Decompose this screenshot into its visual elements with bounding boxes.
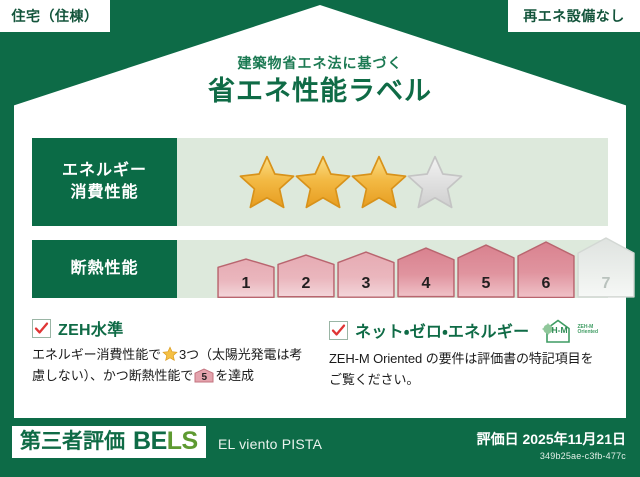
insulation-grade-house: 2 bbox=[277, 256, 335, 298]
energy-label-line2: 消費性能 bbox=[70, 182, 138, 204]
insulation-grade-scale: 1234567 bbox=[177, 240, 637, 303]
check-icon bbox=[34, 321, 49, 336]
grade-badge-value: 5 bbox=[194, 373, 214, 383]
insulation-label: 断熱性能 bbox=[70, 258, 138, 280]
energy-performance-label: 住宅（住棟） 再エネ設備なし 建築物省エネ法に基づく 省エネ性能ラベル エネルギ… bbox=[0, 0, 640, 477]
zeh-desc-part1: エネルギー消費性能で bbox=[32, 347, 161, 362]
zeh-m-house-icon: H-M bbox=[538, 316, 576, 344]
insulation-grade-value: 5 bbox=[457, 275, 515, 293]
evaluation-id: 349b25ae-c3fb-477c bbox=[477, 451, 626, 461]
star-icon bbox=[162, 346, 178, 362]
energy-performance-row: エネルギー 消費性能 bbox=[32, 138, 608, 226]
net-zero-energy-description: ZEH-M Oriented の要件は評価書の特記項目をご覧ください。 bbox=[329, 349, 598, 391]
bels-logo: BELS bbox=[133, 429, 198, 454]
bels-letter-b: B bbox=[133, 427, 151, 455]
net-zero-energy-block: ネット・ゼロ・エネルギー H-M ZEH bbox=[317, 316, 608, 408]
insulation-grade-house: 7 bbox=[577, 239, 635, 298]
zeh-standard-header: ZEH水準 bbox=[32, 316, 307, 340]
title-subtitle: 建築物省エネ法に基づく bbox=[0, 55, 640, 72]
bels-letter-e: E bbox=[151, 427, 167, 455]
insulation-grade-value: 4 bbox=[397, 275, 455, 293]
bels-letter-s: S bbox=[182, 427, 198, 455]
zeh-desc-part3: を達成 bbox=[215, 368, 254, 383]
evaluation-date: 評価日 2025年11月21日 bbox=[477, 429, 626, 449]
net-zero-energy-header: ネット・ゼロ・エネルギー H-M ZEH bbox=[329, 316, 598, 344]
insulation-grade-house: 1 bbox=[217, 259, 275, 298]
star-filled-icon bbox=[237, 153, 297, 211]
insulation-grade-house: 6 bbox=[517, 243, 575, 299]
third-party-evaluation-label: 第三者評価 bbox=[20, 431, 125, 452]
renewable-equipment-tag: 再エネ設備なし bbox=[508, 0, 640, 32]
zeh-m-logo-line2: Oriented bbox=[577, 330, 598, 335]
zeh-standard-checkbox[interactable] bbox=[32, 319, 51, 338]
title-block: 建築物省エネ法に基づく 省エネ性能ラベル bbox=[0, 55, 640, 109]
star-empty-icon bbox=[405, 153, 465, 211]
check-icon bbox=[331, 323, 346, 338]
page-title: 省エネ性能ラベル bbox=[0, 75, 640, 109]
star-rating bbox=[177, 138, 608, 226]
bels-badge: 第三者評価 BELS bbox=[12, 426, 206, 458]
insulation-grade-value: 1 bbox=[217, 275, 275, 293]
grade-badge-icon: 5 bbox=[194, 368, 214, 383]
insulation-grade-value: 2 bbox=[277, 275, 335, 293]
net-zero-energy-title: ネット・ゼロ・エネルギー bbox=[355, 318, 529, 342]
insulation-grade-value: 3 bbox=[337, 275, 395, 293]
energy-label-line1: エネルギー bbox=[62, 160, 147, 182]
zeh-m-letters: H-M bbox=[552, 325, 568, 335]
insulation-grade-house: 3 bbox=[337, 252, 395, 298]
evaluation-info: 評価日 2025年11月21日 349b25ae-c3fb-477c bbox=[477, 429, 626, 461]
insulation-performance-label-cell: 断熱性能 bbox=[32, 240, 177, 298]
building-type-tag: 住宅（住棟） bbox=[0, 0, 110, 32]
star-filled-icon bbox=[349, 153, 409, 211]
zeh-standard-block: ZEH水準 エネルギー消費性能で 3つ（太陽光発電は考慮しない）、かつ断熱性能で… bbox=[32, 316, 317, 408]
zeh-standard-title: ZEH水準 bbox=[58, 316, 124, 340]
energy-performance-label-cell: エネルギー 消費性能 bbox=[32, 138, 177, 226]
insulation-grade-house: 4 bbox=[397, 249, 455, 298]
project-name: EL viento PISTA bbox=[218, 436, 322, 452]
footer-bar: 第三者評価 BELS EL viento PISTA 評価日 2025年11月2… bbox=[0, 422, 640, 477]
insulation-grade-value: 7 bbox=[577, 275, 635, 293]
info-area: ZEH水準 エネルギー消費性能で 3つ（太陽光発電は考慮しない）、かつ断熱性能で… bbox=[32, 316, 608, 408]
zeh-m-oriented-logo: H-M ZEH-M Oriented bbox=[538, 316, 598, 344]
net-zero-energy-checkbox[interactable] bbox=[329, 321, 348, 340]
zeh-standard-description: エネルギー消費性能で 3つ（太陽光発電は考慮しない）、かつ断熱性能で 5 を達成 bbox=[32, 345, 307, 387]
star-filled-icon bbox=[293, 153, 353, 211]
insulation-grade-value: 6 bbox=[517, 275, 575, 293]
bels-letter-l: L bbox=[167, 427, 182, 455]
insulation-performance-row: 断熱性能 1234567 bbox=[32, 240, 608, 298]
insulation-grade-house: 5 bbox=[457, 246, 515, 298]
